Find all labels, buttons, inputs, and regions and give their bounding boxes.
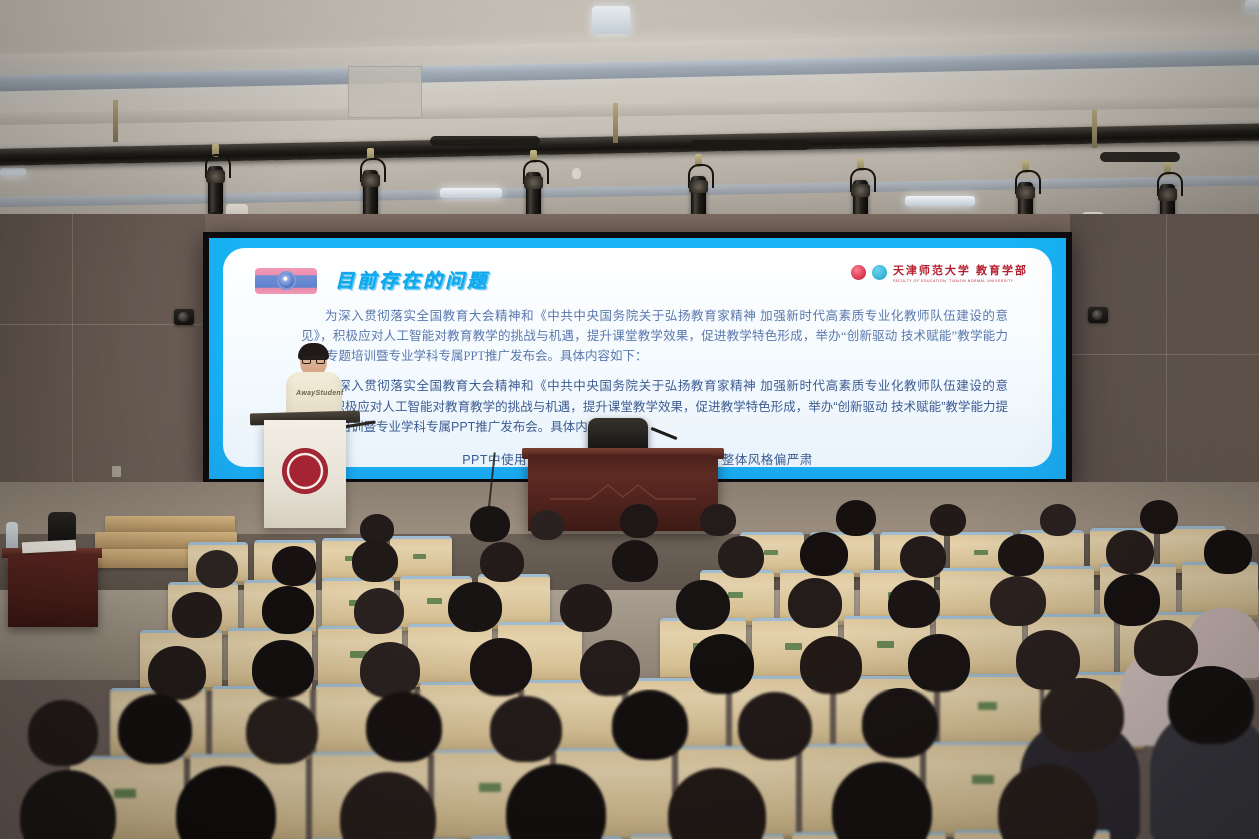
attendee-head [998, 534, 1044, 576]
truss-riser [113, 100, 118, 142]
attendee-head [580, 640, 640, 696]
seat-number-plate [978, 702, 997, 710]
attendee-head [490, 696, 562, 762]
ceiling-lamp [592, 6, 630, 34]
attendee-head [930, 504, 966, 536]
seat-number-plate [764, 550, 778, 555]
seat-number-plate [972, 775, 994, 784]
truss-cable [430, 136, 540, 146]
attendee-head [900, 536, 946, 578]
attendee-head [676, 580, 730, 630]
ceiling [0, 0, 1259, 232]
attendee-head [1104, 574, 1160, 626]
attendee-head [246, 698, 318, 764]
attendee-head [612, 690, 688, 760]
attendee-head [360, 642, 420, 698]
attendee-head [470, 506, 510, 542]
attendee-head [28, 700, 98, 766]
truss-cable [690, 140, 810, 150]
attendee-head [480, 542, 524, 582]
ceiling-lamp [0, 168, 26, 176]
attendee-head [718, 536, 764, 578]
attendee-head [252, 640, 314, 698]
logo-wordmark: 天津师范大学 教育学部 FACULTY OF EDUCATION, TIANJI… [893, 262, 1028, 283]
attendee-head [352, 540, 398, 582]
ceiling-lamp [440, 188, 502, 198]
attendee-head [262, 586, 314, 634]
attendee-head [800, 532, 848, 576]
attendee-head [148, 646, 206, 700]
attendee-head [196, 550, 238, 588]
attendee-head [1168, 666, 1254, 744]
seat-number-plate [974, 550, 988, 555]
seat-number-plate [785, 643, 802, 650]
attendee-head [690, 634, 754, 694]
attendee-head [738, 692, 812, 760]
wall-camera-right [1088, 307, 1108, 323]
attendee-head [800, 636, 862, 694]
seat-number-plate [427, 598, 442, 604]
wall-seam [1070, 354, 1259, 355]
camera-icon [255, 268, 317, 294]
attendee-head [366, 692, 442, 762]
ceiling-dome-light [572, 168, 581, 179]
seat[interactable] [390, 536, 452, 581]
ceiling-lamp [1245, 0, 1259, 12]
attendee-head [1040, 504, 1076, 536]
ceiling-band [0, 95, 1259, 126]
attendee-head [836, 500, 876, 536]
ceiling-vent [348, 66, 422, 118]
attendee-head [118, 694, 192, 764]
seat-number-plate [728, 592, 743, 598]
attendee-head [172, 592, 222, 638]
attendee-head [1204, 530, 1252, 574]
attendee-head [908, 634, 970, 692]
attendee-head [888, 580, 940, 628]
attendee-head [560, 584, 612, 632]
slide-logos: 天津师范大学 教育学部 FACULTY OF EDUCATION, TIANJI… [851, 262, 1028, 283]
seat-number-plate [877, 641, 894, 648]
hoodie-text: AwayStudent [296, 389, 326, 411]
seat-number-plate [479, 783, 501, 792]
ceiling-lamp [905, 196, 975, 206]
logo-name-cn: 天津师范大学 教育学部 [893, 265, 1028, 277]
seated-audience [0, 470, 1259, 839]
attendee-head [470, 638, 532, 696]
attendee-head [1134, 620, 1198, 676]
wall-camera-left [174, 309, 194, 325]
truss-riser [1092, 110, 1097, 148]
glasses-icon [302, 356, 325, 364]
truss-riser [613, 103, 618, 143]
seat-number-plate [413, 554, 426, 559]
attendee-head [612, 540, 658, 582]
truss-cable [1100, 152, 1180, 162]
lighting-truss [0, 123, 1259, 167]
attendee-head [1106, 530, 1154, 574]
slide-paragraph-serif: 为深入贯彻落实全国教育大会精神和《中共中央国务院关于弘扬教育家精神 加强新时代高… [301, 306, 1008, 366]
attendee-head [272, 546, 316, 586]
attendee-head [530, 510, 564, 540]
slide-title: 目前存在的问题 [335, 266, 489, 293]
university-badge-icon [851, 265, 866, 280]
attendee-head [788, 578, 842, 628]
ceiling-light-strip [0, 174, 1259, 208]
attendee-head [990, 576, 1046, 626]
attendee-head [1040, 678, 1124, 752]
seat-number-plate [114, 789, 136, 798]
logo-name-en: FACULTY OF EDUCATION, TIANJIN NORMAL UNI… [893, 280, 1028, 283]
auditorium-screenshot: 目前存在的问题 天津师范大学 教育学部 FACULTY OF EDUCATION… [0, 0, 1259, 839]
faculty-badge-icon [872, 265, 887, 280]
attendee-head [448, 582, 502, 632]
attendee-head [1140, 500, 1178, 534]
attendee-head [862, 688, 938, 758]
attendee-head [620, 504, 658, 538]
attendee-head [700, 504, 736, 536]
attendee-head [354, 588, 404, 634]
